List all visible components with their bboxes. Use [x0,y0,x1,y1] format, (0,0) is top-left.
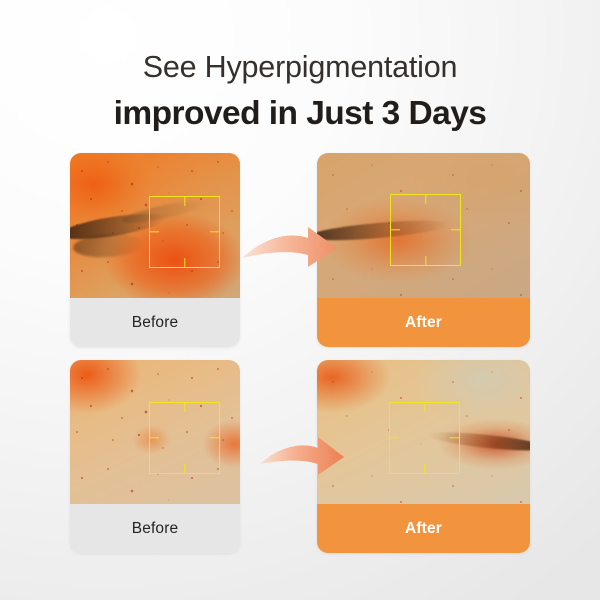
skin-photo-row1-after [317,153,530,298]
focus-reticle-icon [390,194,461,266]
comparison-card-row1-after: After [317,153,530,347]
comparison-card-row2-before: Before [70,360,240,553]
reticle-tick-right [450,437,459,438]
reticle-tick-bottom [184,258,185,267]
reticle-tick-top [184,403,185,412]
reticle-tick-right [210,437,219,438]
reticle-tick-right [210,231,219,232]
caption-before: Before [70,504,240,553]
reticle-tick-bottom [424,464,425,473]
caption-before: Before [70,298,240,347]
skin-photo-row1-before [70,153,240,298]
reticle-tick-bottom [184,464,185,473]
caption-after: After [317,298,530,347]
promo-canvas: See Hyperpigmentation improved in Just 3… [0,0,600,600]
skin-photo-row2-after [317,360,530,505]
caption-after: After [317,504,530,553]
comparison-card-row2-after: After [317,360,530,553]
focus-reticle-icon [389,402,460,474]
comparison-card-row1-before: Before [70,153,240,347]
reticle-tick-left [150,231,159,232]
reticle-tick-left [391,229,400,230]
reticle-tick-left [150,437,159,438]
reticle-tick-top [424,403,425,412]
reticle-tick-right [451,229,460,230]
focus-reticle-icon [149,402,220,474]
skin-photo-row2-before [70,360,240,505]
reticle-tick-left [390,437,399,438]
focus-reticle-icon [149,196,220,268]
comparison-grid: Before After [0,0,600,600]
reticle-tick-top [425,195,426,204]
reticle-tick-top [184,197,185,206]
reticle-tick-bottom [425,256,426,265]
